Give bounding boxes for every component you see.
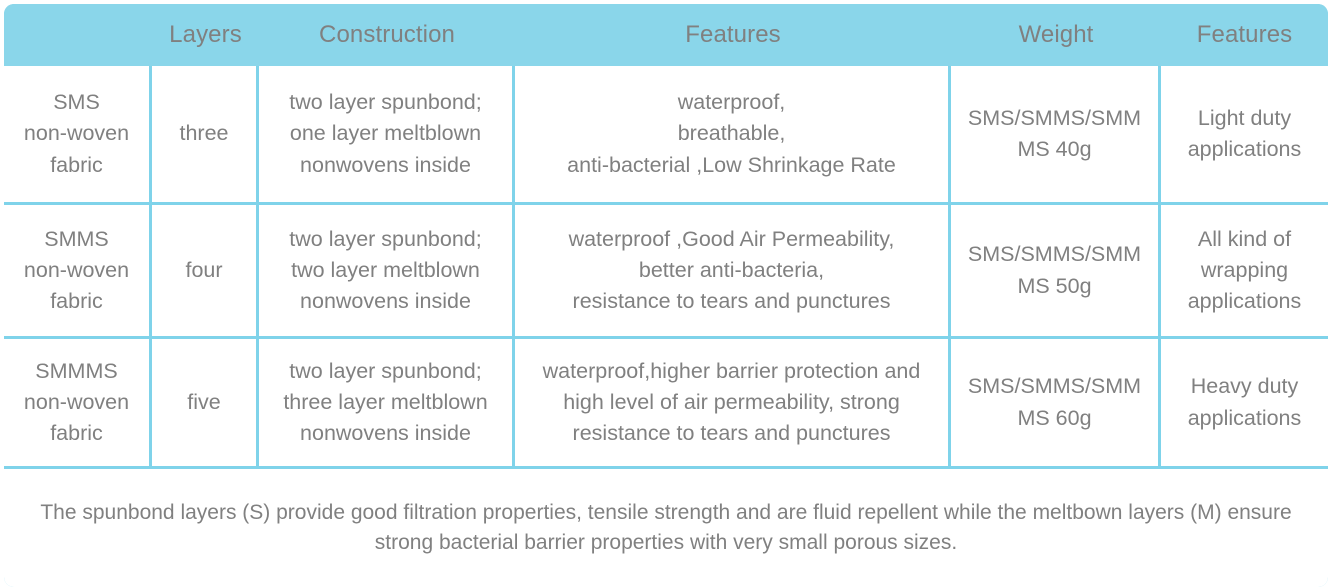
cell-line: SMS/SMMS/SMM [957, 103, 1152, 134]
cell-line: nonwovens inside [265, 286, 506, 317]
cell-line: SMS/SMMS/SMM [957, 371, 1152, 402]
cell-construction: two layer spunbond; one layer meltblown … [259, 66, 515, 205]
cell-construction: two layer spunbond; three layer meltblow… [259, 339, 515, 469]
cell-line: SMMMS [10, 356, 143, 387]
cell-line: Heavy duty [1167, 371, 1322, 402]
cell-line: nonwovens inside [265, 418, 506, 449]
cell-fabric-type: SMMS non-woven fabric [4, 205, 152, 339]
cell-line: resistance to tears and punctures [521, 418, 942, 449]
cell-line: SMS/SMMS/SMM [957, 239, 1152, 270]
table-header: Layers Construction Features Weight Feat… [4, 4, 1328, 66]
cell-features: waterproof,higher barrier protection and… [515, 339, 951, 469]
cell-fabric-type: SMS non-woven fabric [4, 66, 152, 205]
cell-line: fabric [10, 418, 143, 449]
cell-line: non-woven [10, 118, 143, 149]
cell-line: non-woven [10, 387, 143, 418]
cell-line: anti-bacterial ,Low Shrinkage Rate [521, 150, 942, 181]
cell-line: fabric [10, 286, 143, 317]
cell-construction: two layer spunbond; two layer meltblown … [259, 205, 515, 339]
cell-weight: SMS/SMMS/SMM MS 50g [951, 205, 1161, 339]
cell-line: Light duty [1167, 103, 1322, 134]
cell-line: MS 60g [957, 403, 1152, 434]
cell-line: two layer meltblown [265, 255, 506, 286]
cell-applications: All kind of wrapping applications [1161, 205, 1328, 339]
cell-line: waterproof, [521, 87, 942, 118]
table-footnote-row: The spunbond layers (S) provide good fil… [4, 469, 1328, 587]
cell-line: wrapping [1167, 255, 1322, 286]
cell-fabric-type: SMMMS non-woven fabric [4, 339, 152, 469]
cell-layers: four [152, 205, 259, 339]
spec-table-container: Layers Construction Features Weight Feat… [0, 0, 1332, 581]
footnote-text: The spunbond layers (S) provide good fil… [4, 469, 1328, 587]
cell-line: fabric [10, 150, 143, 181]
cell-layers: five [152, 339, 259, 469]
table-row: SMMS non-woven fabric four two layer spu… [4, 205, 1328, 339]
cell-applications: Light duty applications [1161, 66, 1328, 205]
cell-line: SMMS [10, 224, 143, 255]
cell-line: two layer spunbond; [265, 87, 506, 118]
header-construction: Construction [259, 4, 515, 66]
cell-weight: SMS/SMMS/SMM MS 60g [951, 339, 1161, 469]
cell-line: two layer spunbond; [265, 356, 506, 387]
header-weight: Weight [951, 4, 1161, 66]
header-row: Layers Construction Features Weight Feat… [4, 4, 1328, 66]
cell-line: one layer meltblown [265, 118, 506, 149]
header-features: Features [515, 4, 951, 66]
cell-line: resistance to tears and punctures [521, 286, 942, 317]
cell-line: nonwovens inside [265, 150, 506, 181]
cell-line: two layer spunbond; [265, 224, 506, 255]
cell-line: waterproof ,Good Air Permeability, [521, 224, 942, 255]
cell-features: waterproof ,Good Air Permeability, bette… [515, 205, 951, 339]
cell-line: applications [1167, 403, 1322, 434]
cell-line: All kind of [1167, 224, 1322, 255]
cell-line: high level of air permeability, strong [521, 387, 942, 418]
cell-line: applications [1167, 286, 1322, 317]
cell-layers: three [152, 66, 259, 205]
cell-features: waterproof, breathable, anti-bacterial ,… [515, 66, 951, 205]
cell-line: applications [1167, 134, 1322, 165]
cell-line: MS 40g [957, 134, 1152, 165]
cell-line: three layer meltblown [265, 387, 506, 418]
table-body: SMS non-woven fabric three two layer spu… [4, 66, 1328, 587]
header-features-2: Features [1161, 4, 1328, 66]
cell-weight: SMS/SMMS/SMM MS 40g [951, 66, 1161, 205]
cell-line: SMS [10, 87, 143, 118]
cell-line: non-woven [10, 255, 143, 286]
cell-line: better anti-bacteria, [521, 255, 942, 286]
cell-line: waterproof,higher barrier protection and [521, 356, 942, 387]
cell-line: breathable, [521, 118, 942, 149]
nonwoven-fabric-spec-table: Layers Construction Features Weight Feat… [4, 4, 1328, 587]
cell-applications: Heavy duty applications [1161, 339, 1328, 469]
table-row: SMS non-woven fabric three two layer spu… [4, 66, 1328, 205]
header-layers: Layers [152, 4, 259, 66]
table-row: SMMMS non-woven fabric five two layer sp… [4, 339, 1328, 469]
cell-line: MS 50g [957, 271, 1152, 302]
header-blank [4, 4, 152, 66]
